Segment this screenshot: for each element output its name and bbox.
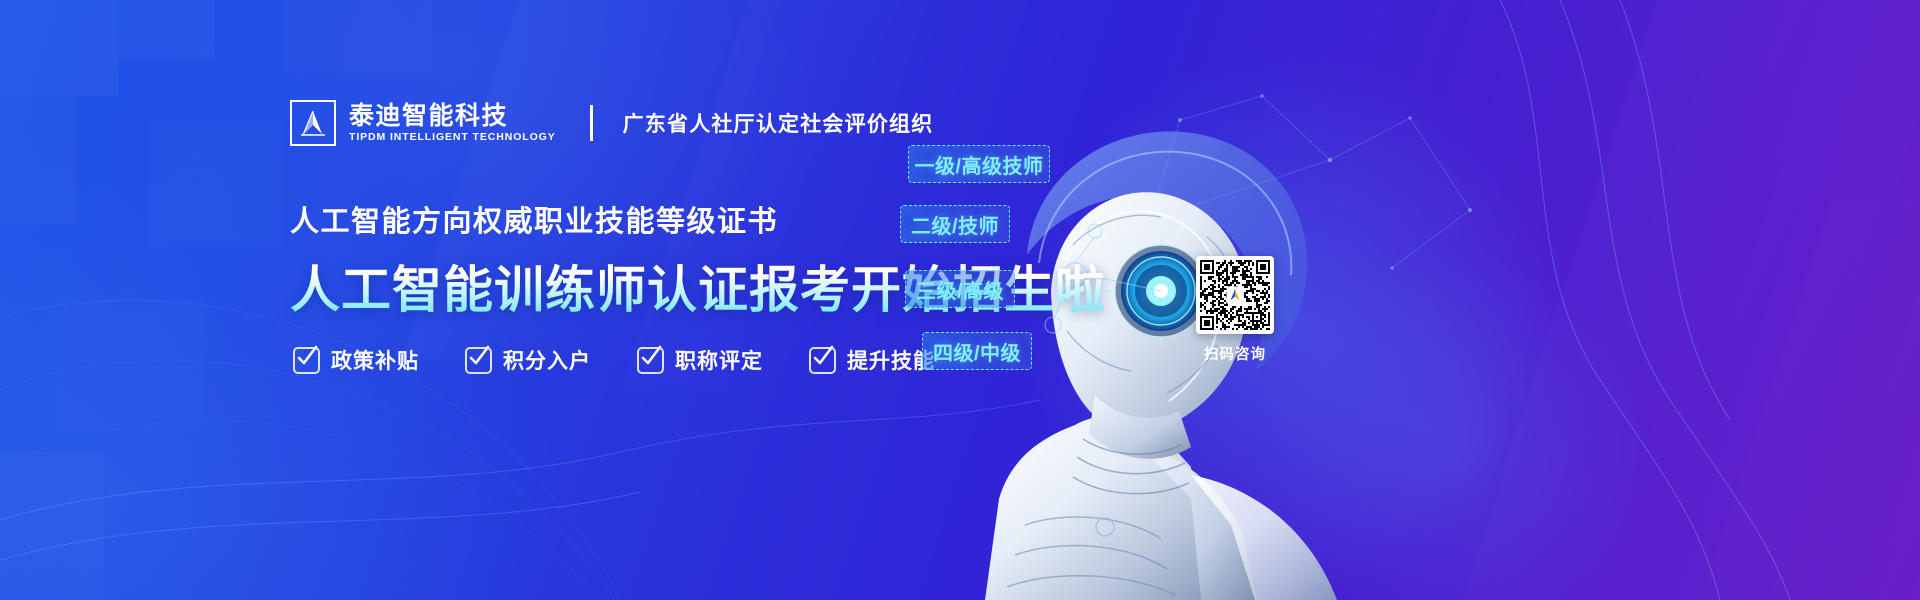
feature-item: 提升技能 [809, 345, 935, 375]
qr-section: 扫码咨询 [1196, 256, 1274, 364]
promo-banner: 泰迪智能科技 TIPDM INTELLIGENT TECHNOLOGY 广东省人… [0, 0, 1920, 600]
checkbox-checked-icon [465, 347, 492, 374]
checkbox-checked-icon [293, 347, 320, 374]
feature-item: 政策补贴 [293, 345, 419, 375]
header-divider [590, 105, 593, 141]
subheading: 人工智能方向权威职业技能等级证书 [290, 198, 778, 240]
feature-label: 政策补贴 [331, 345, 419, 375]
level-badge-4: 四级/中级 [922, 332, 1032, 370]
checkbox-checked-icon [809, 347, 836, 374]
feature-label: 积分入户 [503, 345, 591, 375]
logo-name-cn: 泰迪智能科技 [349, 104, 556, 129]
logo-name-en: TIPDM INTELLIGENT TECHNOLOGY [349, 132, 556, 143]
feature-item: 积分入户 [465, 345, 591, 375]
level-badge-2: 二级/技师 [900, 205, 1010, 243]
checkbox-checked-icon [637, 347, 664, 374]
feature-item: 职称评定 [637, 345, 763, 375]
brand-logo[interactable]: 泰迪智能科技 TIPDM INTELLIGENT TECHNOLOGY [290, 100, 556, 146]
feature-label: 职称评定 [675, 345, 763, 375]
qr-center-logo-icon [1227, 287, 1244, 304]
qr-caption: 扫码咨询 [1196, 343, 1274, 364]
tipdm-triangle-mark-icon [290, 100, 336, 146]
qr-code-icon[interactable] [1196, 256, 1274, 334]
header-row: 泰迪智能科技 TIPDM INTELLIGENT TECHNOLOGY 广东省人… [290, 100, 933, 146]
feature-list: 政策补贴 积分入户 职称评定 提升技能 [293, 345, 935, 375]
level-badge-1: 一级/高级技师 [908, 145, 1050, 183]
accreditation-text: 广东省人社厅认定社会评价组织 [623, 108, 934, 138]
level-badge-3: 三级/高级 [905, 270, 1015, 308]
